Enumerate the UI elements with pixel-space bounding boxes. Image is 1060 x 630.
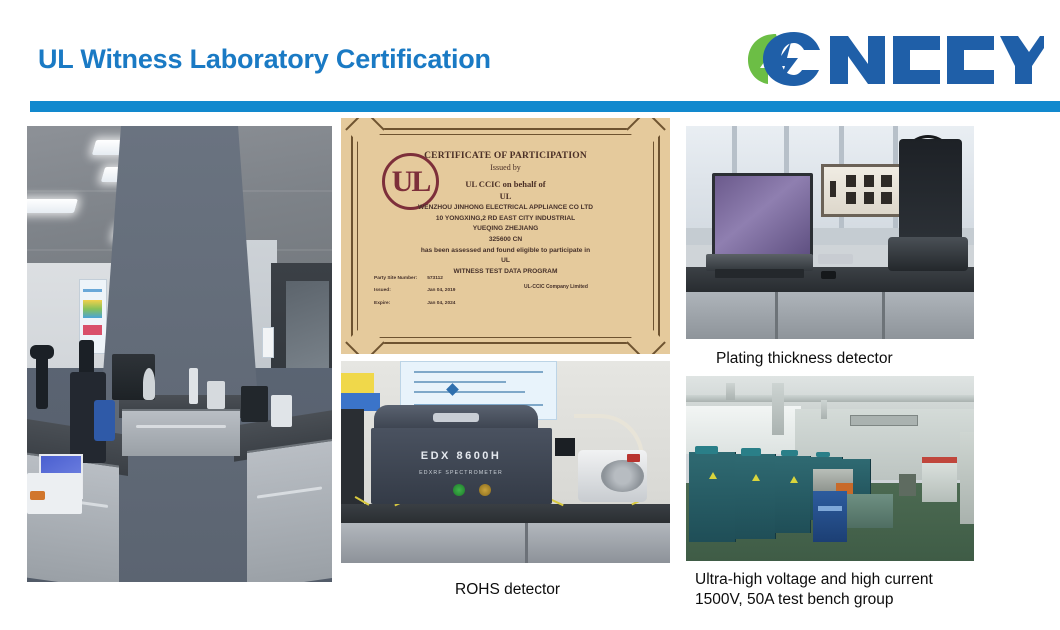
- certificate-issued-by-label: Issued by: [341, 163, 670, 172]
- text-line: 10 YONGXING,2 RD EAST CITY INDUSTRIAL: [367, 214, 644, 225]
- high-voltage-warning-icon: [709, 472, 717, 479]
- certificate-authority: UL CCIC on behalf ofUL: [341, 178, 670, 203]
- certificate-meta-table: Party Site Number:573112Issued:Jan 04, 2…: [371, 272, 464, 311]
- cabinet-vent: [741, 448, 761, 455]
- lab-device: [207, 381, 225, 408]
- computer-tower: [341, 409, 364, 504]
- caption-line-2: 1500V, 50A test bench group: [695, 590, 995, 610]
- high-voltage-warning-icon: [752, 474, 760, 481]
- rohs-scene: EDX 8600H EDXRF SPECTROMETER: [341, 361, 670, 563]
- logo-letter-n: [830, 36, 885, 84]
- plating-scene: [686, 126, 974, 339]
- certificate-title: CERTIFICATE OF PARTICIPATION: [341, 151, 670, 161]
- ceiling-lamp: [27, 199, 78, 213]
- photo-high-voltage-test-bench: [686, 376, 974, 561]
- microscope-head: [30, 345, 54, 359]
- brand-logo: [744, 28, 1044, 90]
- photo-rohs-detector: EDX 8600H EDXRF SPECTROMETER: [341, 361, 670, 563]
- pump-switch: [627, 454, 640, 462]
- photo-plating-thickness-detector: [686, 126, 974, 339]
- orange-indicator: [30, 491, 45, 500]
- caption-line-1: Ultra-high voltage and high current: [695, 570, 995, 590]
- caption-high-voltage-test-bench: Ultra-high voltage and high current 1500…: [695, 570, 995, 611]
- unit-badge: [818, 506, 841, 512]
- certificate-meta-label: Issued:: [373, 286, 424, 296]
- logo-letter-c2: [947, 36, 994, 84]
- cabinet-vent: [695, 446, 718, 453]
- certificate-meta-row: Issued:Jan 04, 2019: [373, 286, 462, 296]
- cabinet-divider: [882, 292, 885, 339]
- photo-ul-certificate: UL CERTIFICATE OF PARTICIPATION Issued b…: [341, 118, 670, 354]
- test-cabinet: [735, 454, 776, 539]
- text-line: UL CCIC on behalf of: [341, 178, 670, 190]
- support-post: [726, 383, 735, 400]
- wall-column: [960, 432, 974, 525]
- lab-cabinet-right: [247, 439, 332, 582]
- remote-control: [818, 254, 853, 265]
- certificate-company: UL-CCIC Company Limited: [524, 284, 588, 290]
- lab-glassware: [143, 368, 155, 400]
- vertical-duct: [772, 383, 784, 435]
- mouse: [821, 271, 835, 280]
- caption-plating-thickness-detector: Plating thickness detector: [716, 349, 893, 369]
- test-cabinet: [689, 452, 736, 543]
- certificate-meta-row: Party Site Number:573112: [373, 274, 462, 284]
- microscope-stage: [888, 237, 969, 271]
- certificate-meta-label: Expire:: [373, 299, 424, 309]
- test-cabinet: [775, 456, 811, 534]
- certificate-meta-value: Jan 04, 2019: [426, 286, 462, 296]
- poster-logo-icon: [446, 383, 459, 396]
- page-title: UL Witness Laboratory Certification: [38, 44, 491, 75]
- photo-laboratory-room: [27, 126, 332, 582]
- bench-cabinets: [341, 523, 670, 563]
- work-bench: [341, 504, 670, 522]
- text-line: YUEQING ZHEJIANG: [367, 224, 644, 235]
- text-line: UL: [367, 256, 644, 267]
- hv-scene: [686, 376, 974, 561]
- text-line: has been assessed and found eligible to …: [367, 246, 644, 257]
- text-line: UL: [341, 190, 670, 202]
- text-line: WENZHOU JINHONG ELECTRICAL APPLIANCE CO …: [367, 203, 644, 214]
- cabinet-divider: [775, 292, 778, 339]
- stool: [899, 474, 916, 496]
- lid-handle: [433, 413, 479, 422]
- overhead-sign: [850, 415, 918, 426]
- power-indicator: [453, 484, 465, 496]
- certificate-meta-value: 573112: [426, 274, 462, 284]
- equipment-top-stripe: [922, 457, 957, 463]
- cabinet-vent: [816, 452, 830, 458]
- certificate-meta-label: Party Site Number:: [373, 274, 424, 284]
- lab-flask: [189, 368, 198, 404]
- high-voltage-warning-icon: [790, 476, 798, 483]
- lab-scene: [27, 126, 332, 582]
- bench-cabinets: [686, 292, 974, 339]
- device-type-label: EDXRF SPECTROMETER: [371, 470, 552, 476]
- laptop-screen: [712, 173, 813, 260]
- lab-device-white: [271, 395, 292, 427]
- text-line: 325600 CN: [367, 235, 644, 246]
- onccy-logo-svg: [744, 28, 1044, 90]
- equipment-right: [922, 457, 957, 501]
- certificate-meta-rows: Party Site Number:573112Issued:Jan 04, 2…: [373, 274, 462, 309]
- cabinet-vent: [781, 450, 798, 456]
- title-underline-rule: [30, 101, 1060, 112]
- device-model-label: EDX 8600H: [371, 450, 552, 462]
- lab-cabinet-back: [122, 409, 241, 457]
- hanger-rod: [821, 400, 827, 419]
- blue-control-unit: [813, 491, 848, 543]
- wall-note: [262, 327, 274, 359]
- keyboard: [715, 269, 804, 279]
- certificate-meta-value: Jan 04, 2024: [426, 299, 462, 309]
- certificate-body: WENZHOU JINHONG ELECTRICAL APPLIANCE CO …: [367, 203, 644, 278]
- certificate-meta-row: Expire:Jan 04, 2024: [373, 299, 462, 309]
- lab-device-dark: [241, 386, 268, 422]
- blue-instrument: [94, 400, 115, 441]
- caption-rohs-detector: ROHS detector: [455, 580, 560, 600]
- conveyor-table: [847, 494, 893, 527]
- pump-fan-grille: [601, 460, 644, 492]
- logo-letter-y: [1000, 36, 1044, 84]
- valve-block: [555, 438, 575, 456]
- logo-letter-c1: [893, 36, 940, 84]
- cabinet-divider: [525, 523, 528, 563]
